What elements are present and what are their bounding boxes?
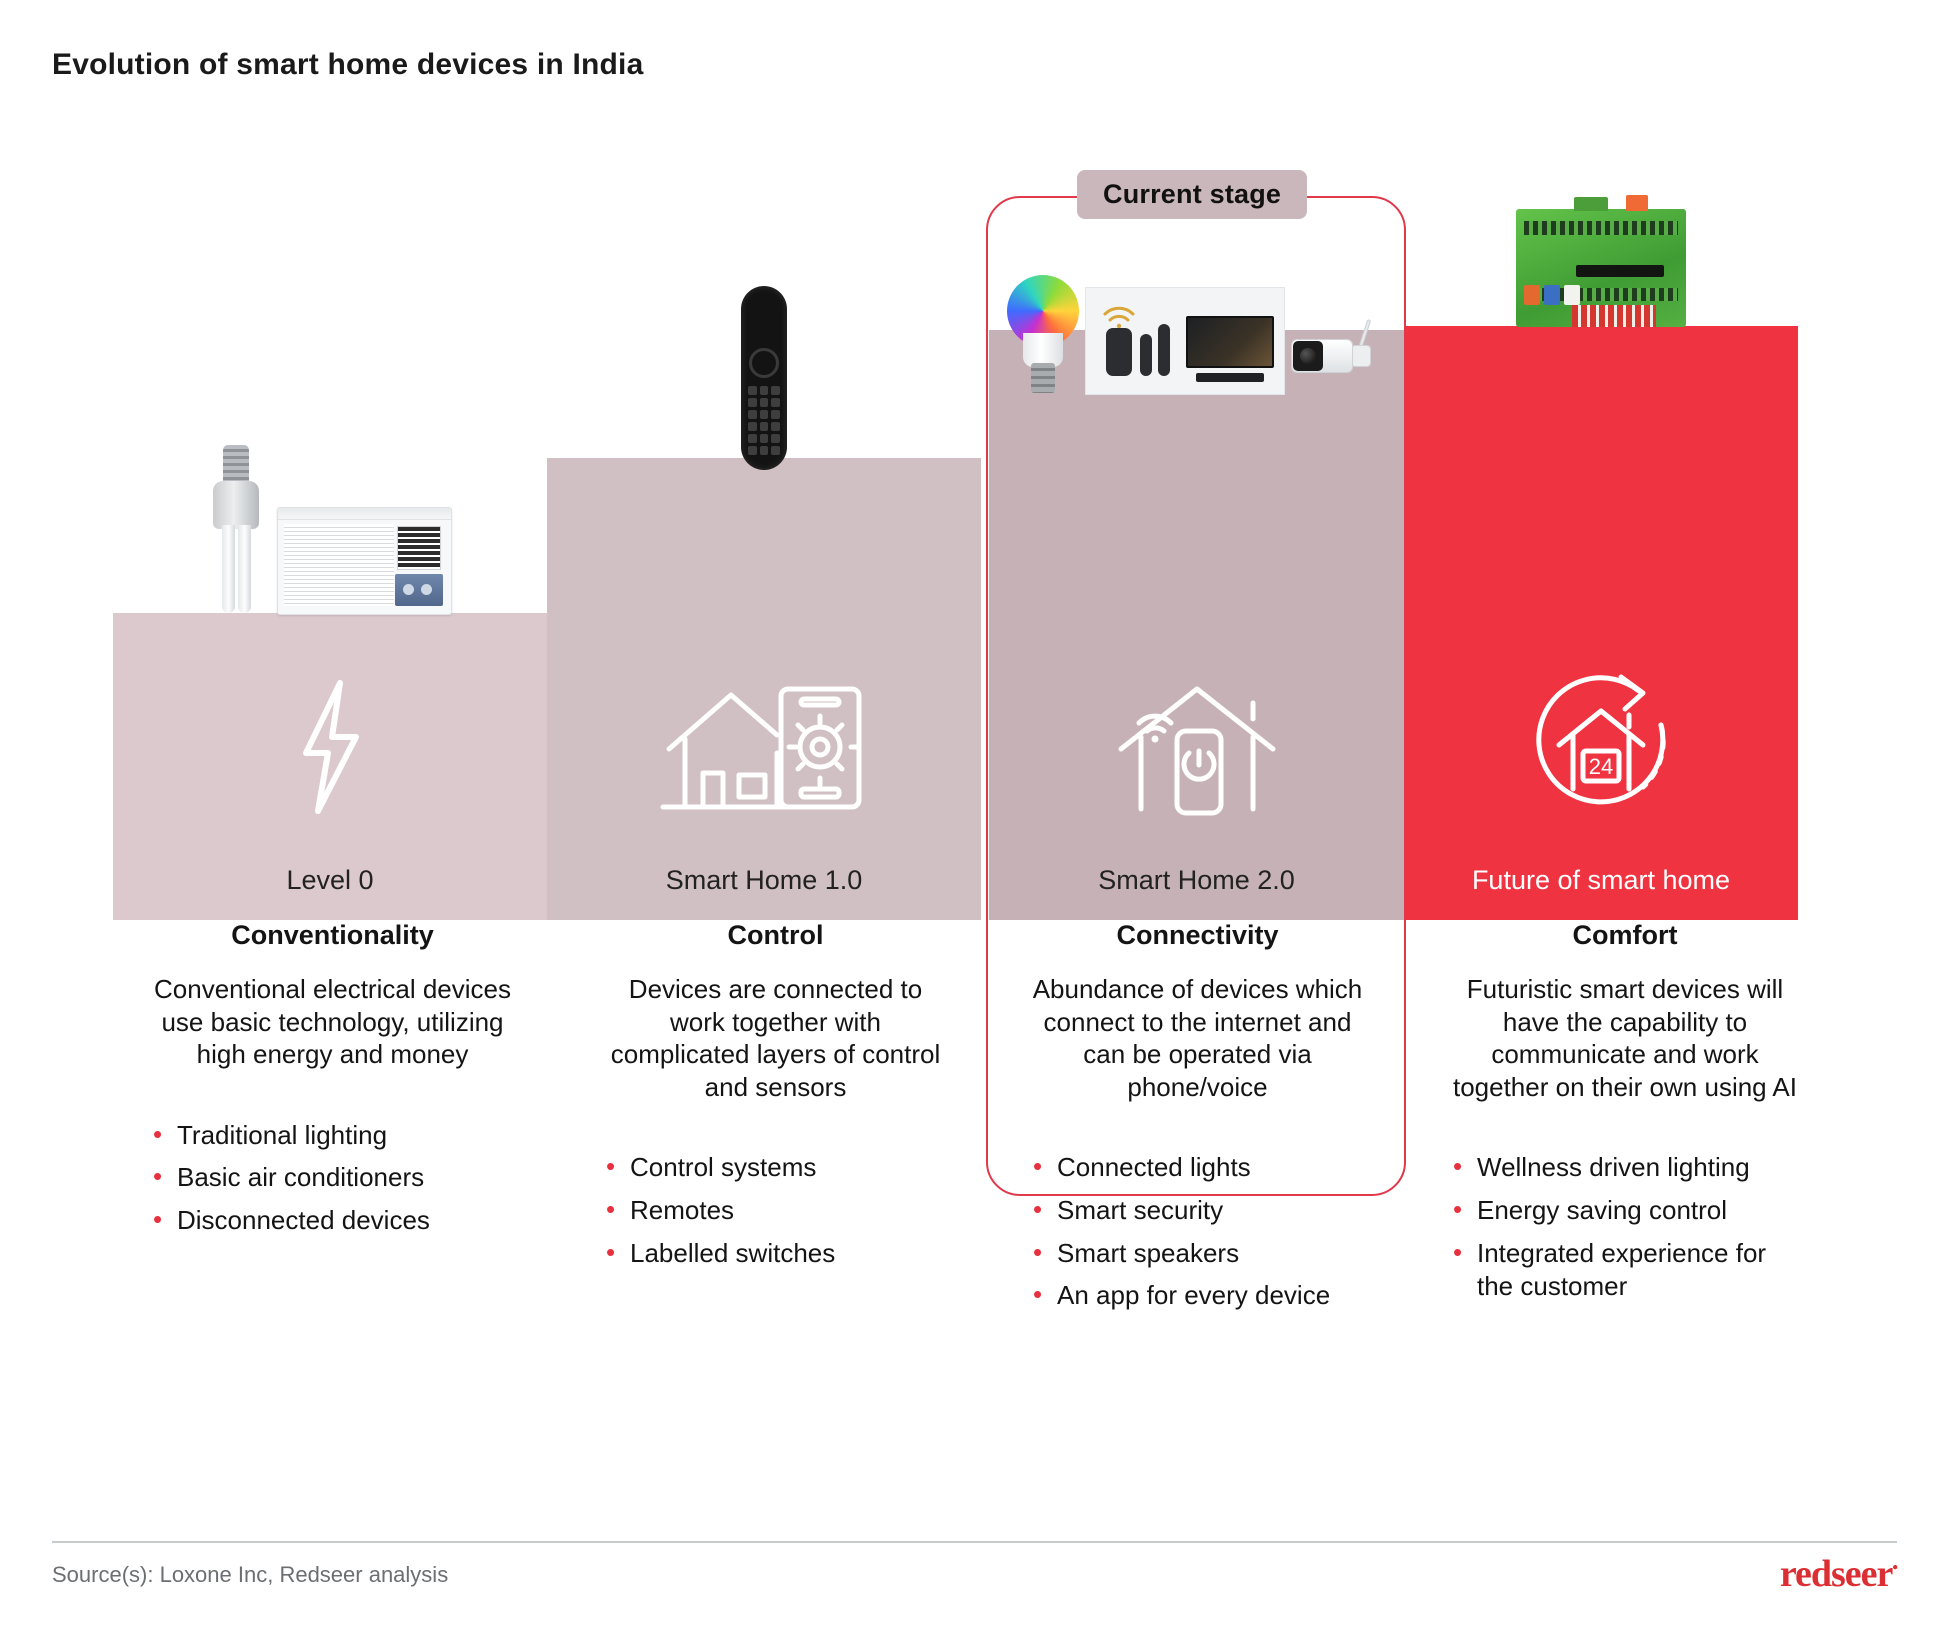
stage-heading: Comfort bbox=[1445, 920, 1805, 951]
stage-devices-smart-home-1 bbox=[547, 290, 981, 470]
house-with-phone-gear-icon bbox=[659, 683, 869, 822]
bar-fill bbox=[1404, 326, 1798, 920]
stage-heading: Connectivity bbox=[1025, 920, 1370, 951]
stage-bars-area: Level 0 bbox=[0, 0, 1949, 920]
stage-bullet-list: Connected lights Smart security Smart sp… bbox=[1025, 1151, 1370, 1313]
svg-text:24: 24 bbox=[1589, 754, 1613, 779]
list-item: Connected lights bbox=[1025, 1151, 1370, 1185]
stage-devices-level-0 bbox=[113, 430, 547, 615]
list-item: Remotes bbox=[598, 1194, 953, 1228]
stage-description: Conventional electrical devices use basi… bbox=[145, 973, 520, 1071]
list-item: Labelled switches bbox=[598, 1237, 953, 1271]
smart-speaker-tv-image bbox=[1085, 287, 1285, 395]
source-note: Source(s): Loxone Inc, Redseer analysis bbox=[52, 1562, 448, 1588]
stage-description: Futuristic smart devices will have the c… bbox=[1445, 973, 1805, 1103]
stage-bullet-list: Control systems Remotes Labelled switche… bbox=[598, 1151, 953, 1270]
redseer-logo: redseer• bbox=[1780, 1552, 1897, 1596]
stage-heading: Conventionality bbox=[145, 920, 520, 951]
green-circuit-board-image bbox=[1516, 209, 1686, 327]
stage-description: Abundance of devices which connect to th… bbox=[1025, 973, 1370, 1103]
redseer-logo-text: redseer bbox=[1780, 1553, 1893, 1595]
list-item: Integrated experience for the customer bbox=[1445, 1237, 1805, 1305]
stage-bar-level-0[interactable]: Level 0 bbox=[113, 613, 547, 920]
stage-bar-label: Level 0 bbox=[113, 865, 547, 896]
list-item: Basic air conditioners bbox=[145, 1161, 520, 1195]
rgb-smart-bulb-image bbox=[1007, 275, 1079, 395]
stage-bar-smart-home-1[interactable]: Smart Home 1.0 bbox=[547, 458, 981, 920]
infographic-page: Evolution of smart home devices in India… bbox=[0, 0, 1949, 1631]
stage-bar-label: Future of smart home bbox=[1404, 865, 1798, 896]
security-camera-image bbox=[1291, 319, 1387, 395]
list-item: Smart security bbox=[1025, 1194, 1370, 1228]
stage-heading: Control bbox=[598, 920, 953, 951]
stage-bar-future[interactable]: 24 Future of smart home bbox=[1404, 326, 1798, 920]
window-air-conditioner-image bbox=[277, 507, 452, 615]
list-item: Traditional lighting bbox=[145, 1119, 520, 1153]
list-item: Wellness driven lighting bbox=[1445, 1151, 1805, 1185]
stage-devices-future bbox=[1404, 205, 1798, 327]
list-item: An app for every device bbox=[1025, 1279, 1370, 1313]
stage-text-column-smart-home-1: Control Devices are connected to work to… bbox=[598, 920, 953, 1279]
list-item: Energy saving control bbox=[1445, 1194, 1805, 1228]
stage-bar-label: Smart Home 1.0 bbox=[547, 865, 981, 896]
stage-devices-smart-home-2 bbox=[989, 270, 1404, 395]
list-item: Disconnected devices bbox=[145, 1204, 520, 1238]
footer-divider bbox=[52, 1541, 1897, 1543]
stage-text-column-smart-home-2: Connectivity Abundance of devices which … bbox=[1025, 920, 1370, 1322]
stage-bullet-list: Traditional lighting Basic air condition… bbox=[145, 1119, 520, 1238]
lightning-bolt-icon bbox=[282, 677, 378, 822]
stage-description: Devices are connected to work together w… bbox=[598, 973, 953, 1103]
list-item: Control systems bbox=[598, 1151, 953, 1185]
stage-bullet-list: Wellness driven lighting Energy saving c… bbox=[1445, 1151, 1805, 1304]
current-stage-badge: Current stage bbox=[1077, 170, 1307, 219]
house-with-wifi-phone-power-icon bbox=[1107, 679, 1287, 822]
bar-fill bbox=[989, 330, 1404, 920]
list-item: Smart speakers bbox=[1025, 1237, 1370, 1271]
stage-text-column-level-0: Conventionality Conventional electrical … bbox=[145, 920, 520, 1247]
stage-bar-label: Smart Home 2.0 bbox=[989, 865, 1404, 896]
stage-bar-smart-home-2[interactable]: Smart Home 2.0 bbox=[989, 330, 1404, 920]
house-24-arrow-icon: 24 bbox=[1521, 669, 1681, 822]
stage-text-column-future: Comfort Futuristic smart devices will ha… bbox=[1445, 920, 1805, 1313]
tv-remote-image bbox=[741, 286, 787, 470]
cfl-bulb-image bbox=[209, 445, 263, 615]
